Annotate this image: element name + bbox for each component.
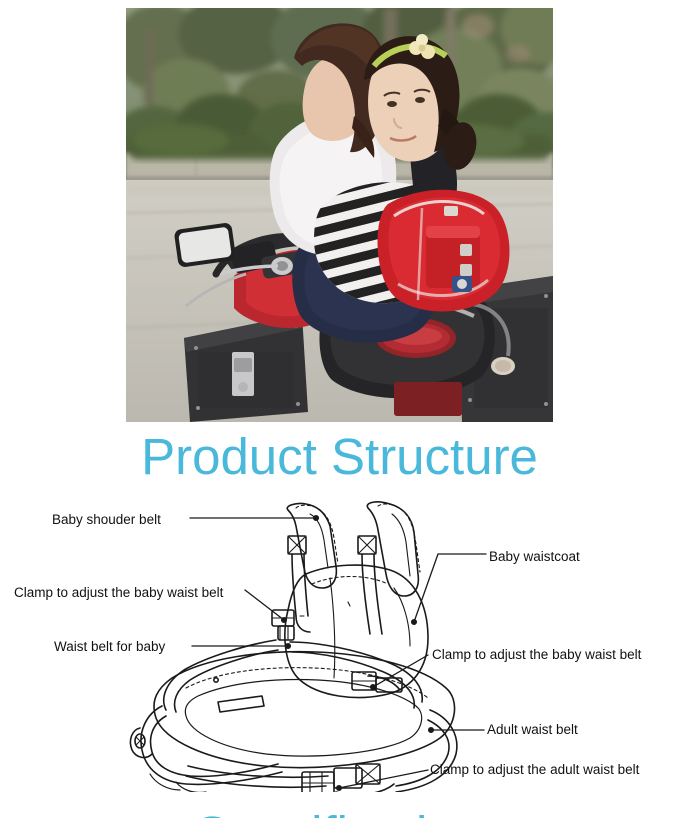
- adult-waist-belt-right: [396, 710, 457, 792]
- label-waist-belt-for-baby: Waist belt for baby: [54, 639, 165, 655]
- seat-base: [154, 652, 455, 768]
- page-title: Product Structure: [0, 428, 679, 486]
- label-clamp-adult-waist-belt: Clamp to adjust the adult waist belt: [430, 762, 639, 778]
- label-adult-waist-belt: Adult waist belt: [487, 722, 578, 738]
- seat-rivet: [214, 678, 218, 682]
- baby-waist-clamp-left: [272, 610, 294, 640]
- product-photo: [126, 8, 553, 422]
- shoulder-pad-left: [287, 503, 336, 588]
- label-clamp-baby-waist-belt-left: Clamp to adjust the baby waist belt: [14, 585, 223, 601]
- next-section-title: Specification: [0, 806, 679, 818]
- seat-webbing: [218, 696, 264, 712]
- label-clamp-baby-waist-belt-right: Clamp to adjust the baby waist belt: [432, 647, 641, 663]
- baby-waist-belt-left: [164, 640, 276, 710]
- product-photo-illustration: [126, 8, 553, 422]
- adult-waist-clamp: [302, 764, 394, 792]
- label-baby-waistcoat: Baby waistcoat: [489, 549, 580, 565]
- label-baby-shoulder-belt: Baby shouder belt: [52, 512, 161, 528]
